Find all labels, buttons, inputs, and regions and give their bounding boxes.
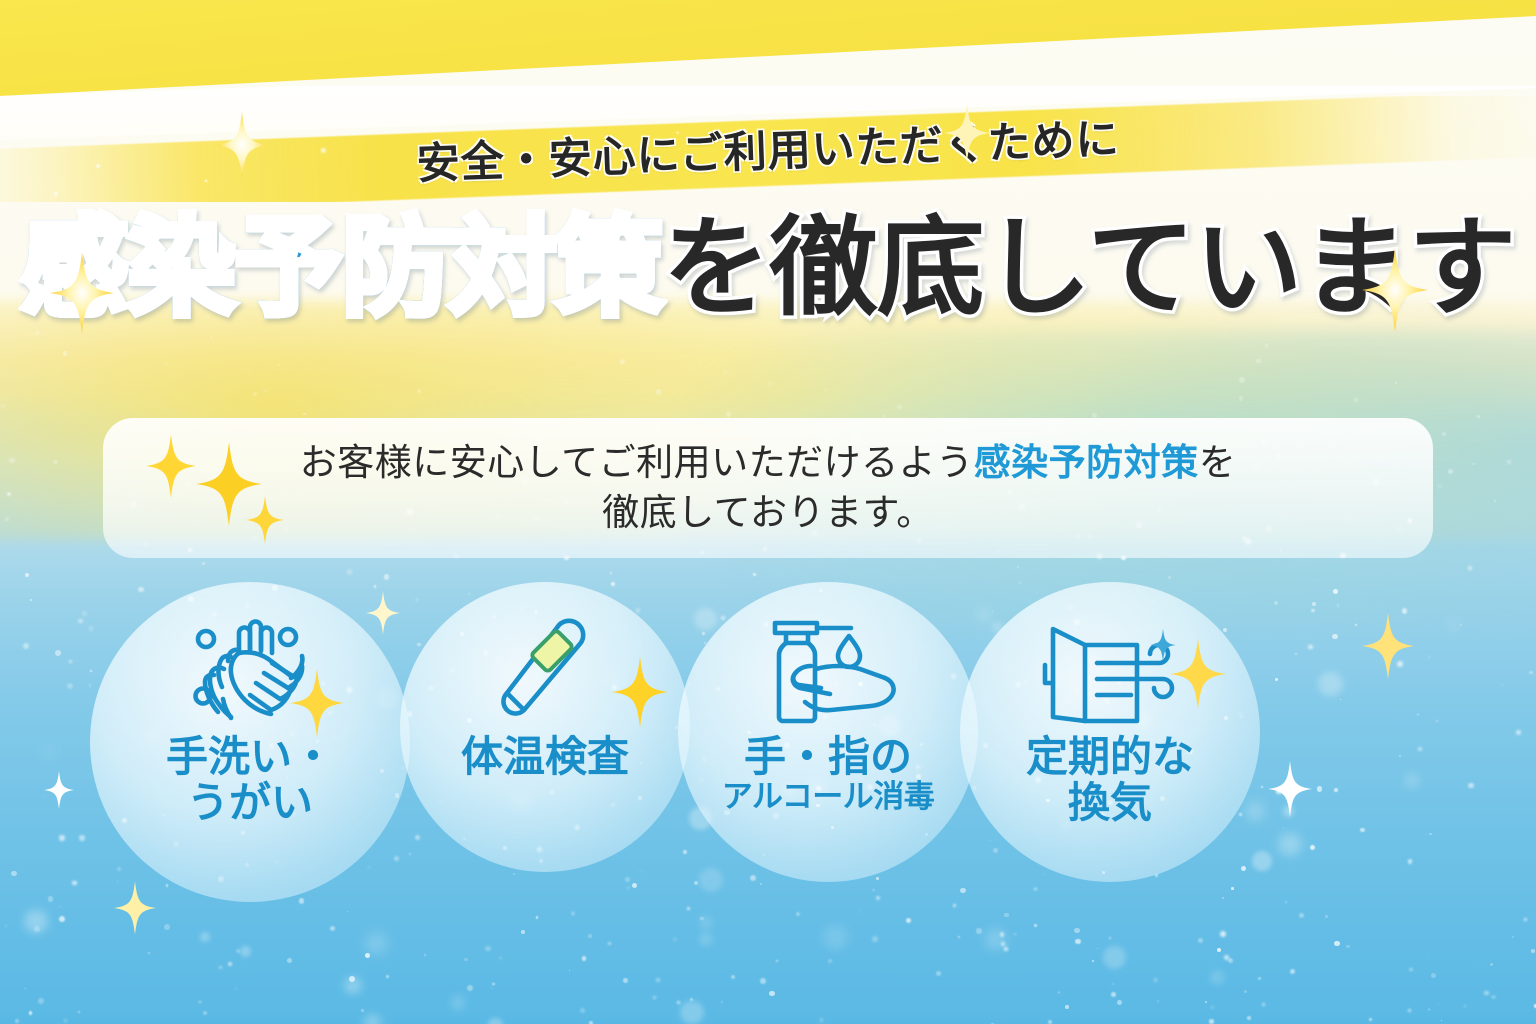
measures-row: 手洗い・ うがい 体温検査 xyxy=(0,578,1536,908)
message-line-1: お客様に安心してご利用いただけるよう感染予防対策を xyxy=(300,438,1236,488)
measure-circle-hand-sanitizer[interactable]: 手・指の アルコール消毒 xyxy=(678,582,978,882)
banner-title: 安全・安心にご利用いただくために xyxy=(416,104,1121,191)
headline: 感染予防対策 を徹底しています xyxy=(0,196,1536,342)
message-line-1-post: を xyxy=(1199,441,1237,484)
measure-label: 体温検査 xyxy=(461,734,629,780)
measure-label: 手・指の アルコール消毒 xyxy=(722,734,935,814)
headline-highlight: 感染予防対策 xyxy=(21,215,663,323)
infection-prevention-poster: 安全・安心にご利用いただくために 感染予防対策 を徹底しています xyxy=(0,0,1536,1024)
hand-sanitizer-icon xyxy=(753,614,903,732)
message-line-1-pre: お客様に安心してご利用いただけるよう xyxy=(300,441,974,484)
measure-circle-temperature-check[interactable]: 体温検査 xyxy=(400,582,690,872)
measure-label-line-2: アルコール消毒 xyxy=(722,780,935,814)
measure-circle-ventilation[interactable]: 定期的な 換気 xyxy=(960,582,1260,882)
measure-label-line-1: 手・指の xyxy=(722,734,935,780)
measure-label-line-2: 換気 xyxy=(1026,780,1194,826)
measure-label-line-1: 体温検査 xyxy=(461,734,629,780)
message-box: お客様に安心してご利用いただけるよう感染予防対策を 徹底しております。 xyxy=(103,418,1433,558)
measure-label-line-2: うがい xyxy=(166,780,334,826)
hand-washing-icon xyxy=(184,614,316,732)
measure-circle-hand-washing[interactable]: 手洗い・ うがい xyxy=(90,582,410,902)
message-line-1-highlight: 感染予防対策 xyxy=(974,441,1199,484)
measure-label-line-1: 手洗い・ xyxy=(166,734,334,780)
thermometer-icon xyxy=(483,614,607,732)
ventilation-door-icon xyxy=(1037,614,1183,732)
measure-label: 定期的な 換気 xyxy=(1026,734,1194,826)
measure-label: 手洗い・ うがい xyxy=(166,734,334,826)
measure-label-line-1: 定期的な xyxy=(1026,734,1194,780)
message-line-2: 徹底しております。 xyxy=(602,488,934,538)
headline-rest: を徹底しています xyxy=(663,215,1516,323)
